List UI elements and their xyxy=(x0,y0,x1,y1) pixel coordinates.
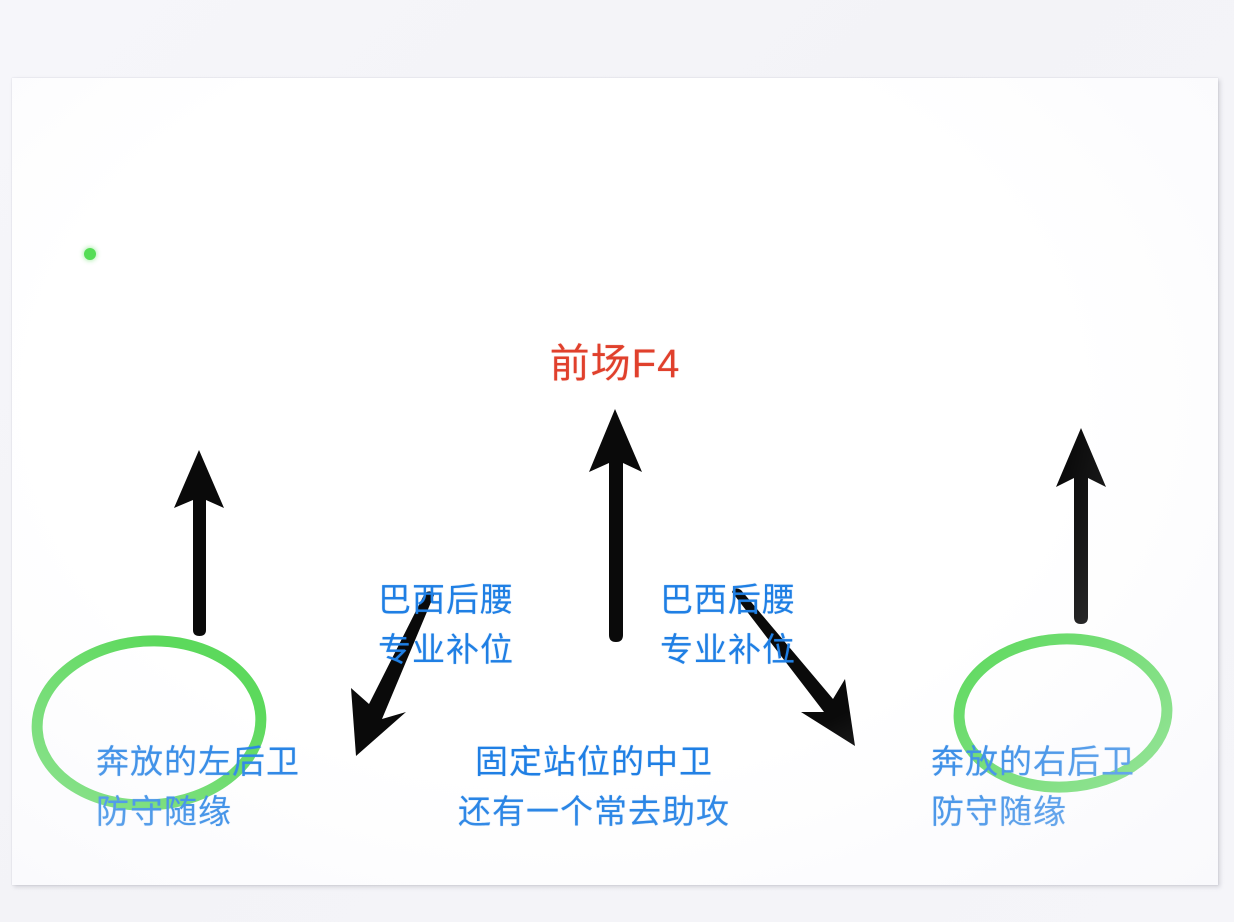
arrow-up-right-icon xyxy=(1056,428,1106,624)
green-bullet-dot xyxy=(84,248,96,260)
label-midfield-right-line1: 巴西后腰 xyxy=(660,575,796,625)
label-center-backs-line2: 还有一个常去助攻 xyxy=(458,787,730,837)
arrow-up-center-icon xyxy=(589,409,642,642)
label-right-back-line1: 奔放的右后卫 xyxy=(931,737,1135,787)
label-left-back-line2: 防守随缘 xyxy=(96,787,300,837)
slide-canvas: 前场F4 巴西后腰 专业补位 巴西后腰 专业补位 xyxy=(0,0,1234,922)
label-midfield-left-line1: 巴西后腰 xyxy=(378,575,514,625)
label-center-backs-line1: 固定站位的中卫 xyxy=(458,737,730,787)
label-right-back-line2: 防守随缘 xyxy=(931,787,1135,837)
label-left-back: 奔放的左后卫 防守随缘 xyxy=(96,737,300,837)
page-title: 前场F4 xyxy=(12,344,1218,384)
label-midfield-left-line2: 专业补位 xyxy=(378,625,514,675)
label-right-back: 奔放的右后卫 防守随缘 xyxy=(931,737,1135,837)
label-center-backs: 固定站位的中卫 还有一个常去助攻 xyxy=(458,737,730,837)
label-midfield-right: 巴西后腰 专业补位 xyxy=(660,575,796,675)
label-midfield-right-line2: 专业补位 xyxy=(660,625,796,675)
label-midfield-left: 巴西后腰 专业补位 xyxy=(378,575,514,675)
label-left-back-line1: 奔放的左后卫 xyxy=(96,737,300,787)
slide-card: 前场F4 巴西后腰 专业补位 巴西后腰 专业补位 xyxy=(12,78,1218,885)
arrow-up-left-icon xyxy=(174,450,224,636)
